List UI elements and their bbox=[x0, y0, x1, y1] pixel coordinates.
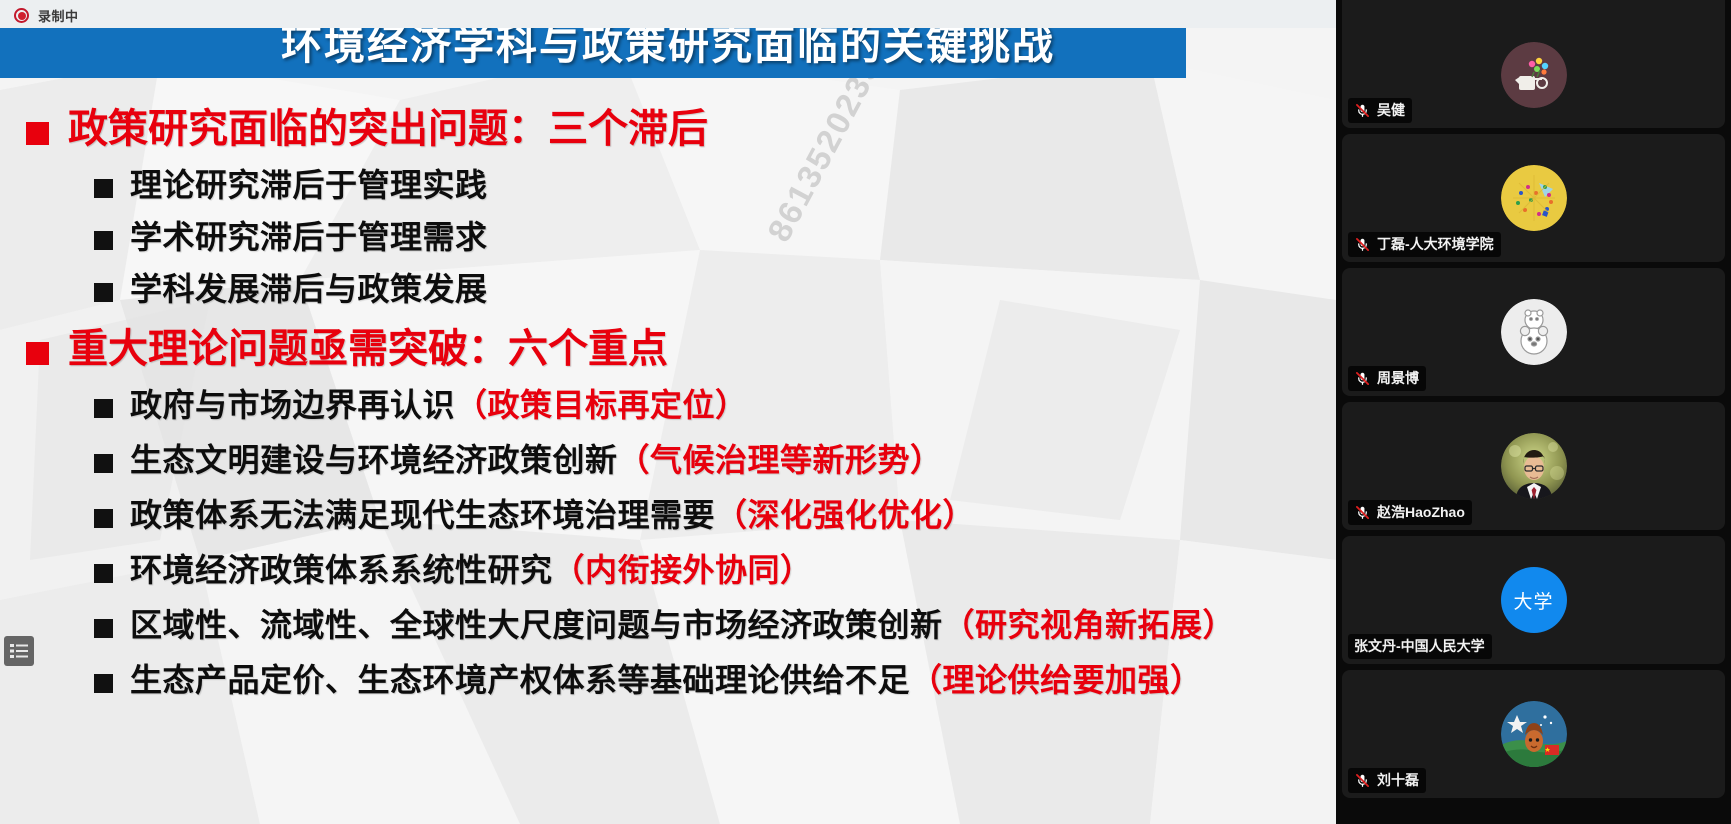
slide-section: 政策研究面临的突出问题：三个滞后 理论研究滞后于管理实践 学术研究滞后于管理需求… bbox=[26, 96, 1326, 310]
participant-filmstrip[interactable]: 吴健 bbox=[1336, 0, 1731, 824]
participant-name: 刘十磊 bbox=[1377, 770, 1419, 790]
record-dot-icon bbox=[14, 8, 29, 23]
participant-name-chip: 丁磊-人大环境学院 bbox=[1348, 232, 1501, 257]
bullet-square-icon bbox=[94, 399, 113, 418]
recording-indicator[interactable]: 录制中 bbox=[14, 6, 79, 25]
participant-name-chip: 赵浩HaoZhao bbox=[1348, 500, 1472, 525]
participant-tile[interactable]: 吴健 bbox=[1342, 0, 1725, 128]
avatar: 大学 bbox=[1501, 567, 1567, 633]
section-heading: 重大理论问题亟需突破：六个重点 bbox=[26, 316, 1326, 374]
list-item-text: 理论研究滞后于管理实践 bbox=[130, 160, 488, 206]
section-heading: 政策研究面临的突出问题：三个滞后 bbox=[26, 96, 1326, 154]
bullet-square-icon bbox=[26, 342, 49, 365]
bullet-square-icon bbox=[94, 509, 113, 528]
participant-name-chip: 张文丹-中国人民大学 bbox=[1348, 634, 1492, 659]
avatar bbox=[1501, 299, 1567, 365]
section-heading-text: 政策研究面临的突出问题：三个滞后 bbox=[68, 96, 708, 154]
participant-name-chip: 吴健 bbox=[1348, 98, 1412, 123]
shared-screen-stage: 8613520235336 录制中 环境经济学科与政策研究面临的关键挑战 政策研… bbox=[0, 0, 1336, 824]
mic-muted-icon bbox=[1354, 772, 1371, 789]
list-item-text: 学术研究滞后于管理需求 bbox=[130, 212, 488, 258]
avatar bbox=[1501, 165, 1567, 231]
participant-name: 丁磊-人大环境学院 bbox=[1377, 234, 1494, 254]
list-item-text: 生态产品定价、生态环境产权体系等基础理论供给不足（理论供给要加强） bbox=[130, 655, 1203, 701]
mic-muted-icon bbox=[1354, 370, 1371, 387]
bullet-square-icon bbox=[94, 674, 113, 693]
avatar bbox=[1501, 42, 1567, 108]
recording-label: 录制中 bbox=[38, 6, 79, 25]
participant-tile[interactable]: 大学 张文丹-中国人民大学 bbox=[1342, 536, 1725, 664]
mic-muted-icon bbox=[1354, 102, 1371, 119]
bullet-square-icon bbox=[94, 179, 113, 198]
participant-tile[interactable]: 周景博 bbox=[1342, 268, 1725, 396]
avatar-initials: 大学 bbox=[1513, 587, 1553, 614]
list-item-text: 政府与市场边界再认识（政策目标再定位） bbox=[130, 380, 748, 426]
list-item-text: 政策体系无法满足现代生态环境治理需要（深化强化优化） bbox=[130, 490, 975, 536]
bullet-square-icon bbox=[94, 564, 113, 583]
bullet-square-icon bbox=[26, 122, 49, 145]
avatar bbox=[1501, 701, 1567, 767]
participant-name-chip: 刘十磊 bbox=[1348, 768, 1426, 793]
list-item: 生态产品定价、生态环境产权体系等基础理论供给不足（理论供给要加强） bbox=[94, 655, 1326, 701]
list-item: 政府与市场边界再认识（政策目标再定位） bbox=[94, 380, 1326, 426]
zoom-meeting-window: 8613520235336 录制中 环境经济学科与政策研究面临的关键挑战 政策研… bbox=[0, 0, 1731, 824]
slide-content: 政策研究面临的突出问题：三个滞后 理论研究滞后于管理实践 学术研究滞后于管理需求… bbox=[0, 96, 1336, 710]
participant-name: 周景博 bbox=[1377, 368, 1419, 388]
participant-name: 吴健 bbox=[1377, 100, 1405, 120]
participant-name-chip: 周景博 bbox=[1348, 366, 1426, 391]
participant-name: 张文丹-中国人民大学 bbox=[1354, 636, 1485, 656]
bullet-square-icon bbox=[94, 283, 113, 302]
participant-tile[interactable]: 丁磊-人大环境学院 bbox=[1342, 134, 1725, 262]
bullet-square-icon bbox=[94, 619, 113, 638]
list-item-text: 区域性、流域性、全球性大尺度问题与市场经济政策创新（研究视角新拓展） bbox=[130, 600, 1235, 646]
list-item-text: 学科发展滞后与政策发展 bbox=[130, 264, 488, 310]
list-item-text: 生态文明建设与环境经济政策创新（气候治理等新形势） bbox=[130, 435, 943, 481]
list-item: 学术研究滞后于管理需求 bbox=[94, 212, 1326, 258]
list-item: 学科发展滞后与政策发展 bbox=[94, 264, 1326, 310]
slide-section: 重大理论问题亟需突破：六个重点 政府与市场边界再认识（政策目标再定位） 生态文明… bbox=[26, 316, 1326, 701]
participant-name: 赵浩HaoZhao bbox=[1377, 502, 1465, 522]
list-item: 政策体系无法满足现代生态环境治理需要（深化强化优化） bbox=[94, 490, 1326, 536]
recording-bar bbox=[0, 0, 1336, 28]
bullet-square-icon bbox=[94, 454, 113, 473]
participant-tile[interactable]: 赵浩HaoZhao bbox=[1342, 402, 1725, 530]
mic-muted-icon bbox=[1354, 504, 1371, 521]
avatar bbox=[1501, 433, 1567, 499]
list-item: 理论研究滞后于管理实践 bbox=[94, 160, 1326, 206]
list-item: 区域性、流域性、全球性大尺度问题与市场经济政策创新（研究视角新拓展） bbox=[94, 600, 1326, 646]
mic-muted-icon bbox=[1354, 236, 1371, 253]
list-item: 生态文明建设与环境经济政策创新（气候治理等新形势） bbox=[94, 435, 1326, 481]
participant-tile[interactable]: 刘十磊 bbox=[1342, 670, 1725, 798]
section-heading-text: 重大理论问题亟需突破：六个重点 bbox=[68, 316, 668, 374]
list-item: 环境经济政策体系系统性研究（内衔接外协同） bbox=[94, 545, 1326, 591]
list-view-icon[interactable] bbox=[4, 636, 34, 666]
list-item-text: 环境经济政策体系系统性研究（内衔接外协同） bbox=[130, 545, 813, 591]
bullet-square-icon bbox=[94, 231, 113, 250]
